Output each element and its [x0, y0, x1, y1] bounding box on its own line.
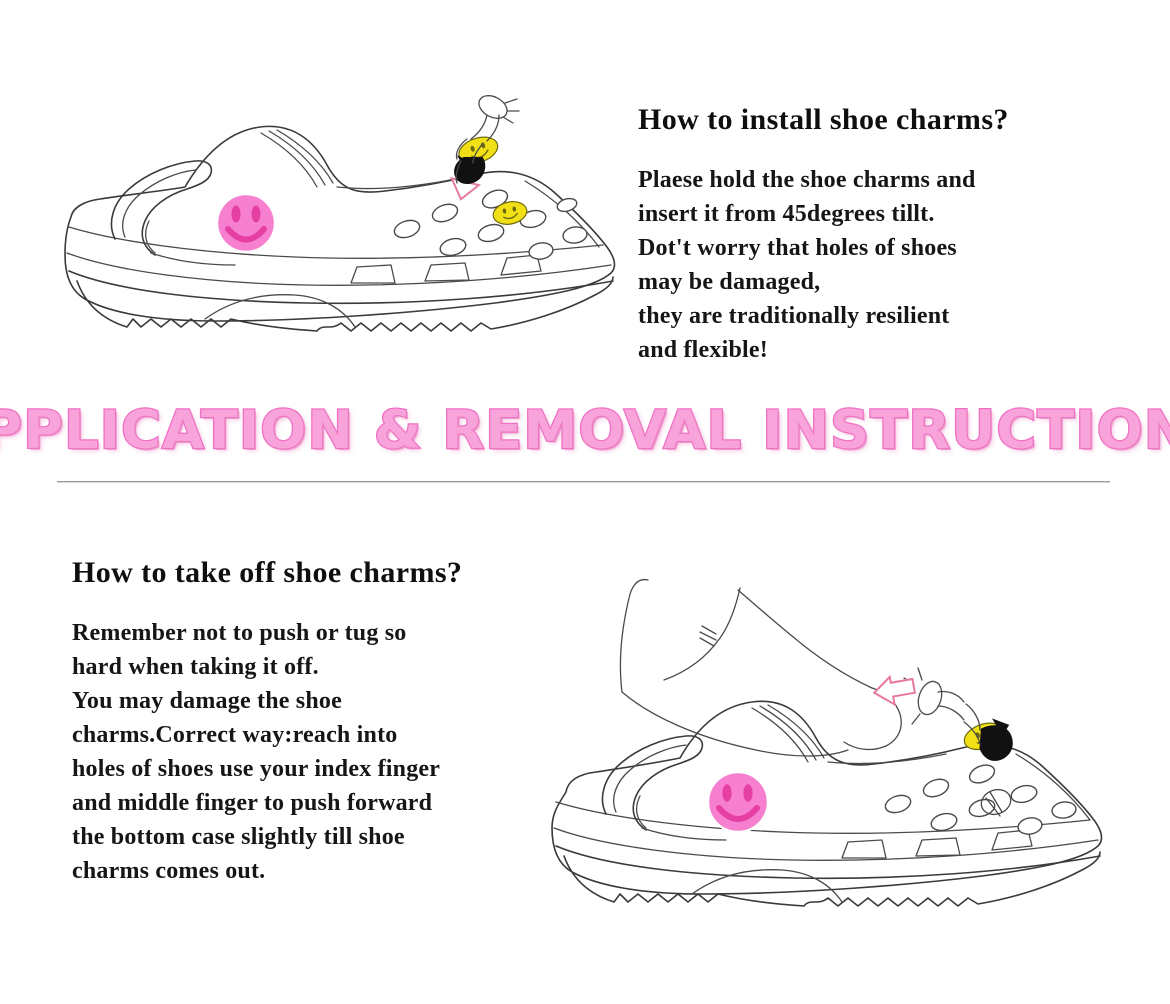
removal-line-3: You may damage the shoe: [72, 684, 572, 718]
removal-illustration: [530, 580, 1150, 920]
install-heading: How to install shoe charms?: [638, 103, 1108, 137]
removing-yellow-charm: [960, 714, 1019, 770]
pink-smiley-charm: [217, 194, 275, 252]
install-line-6: and flexible!: [638, 333, 1108, 367]
install-section: How to install shoe charms? Plaese hold …: [0, 0, 1170, 400]
clog-shoe-install-drawing: [55, 95, 625, 345]
removal-line-2: hard when taking it off.: [72, 650, 572, 684]
removal-line-8: charms comes out.: [72, 854, 572, 888]
banner: APPLICATION & REMOVAL INSTRUCTIONS: [0, 398, 1170, 464]
removal-line-6: and middle finger to push forward: [72, 786, 572, 820]
removal-line-7: the bottom case slightly till shoe: [72, 820, 572, 854]
install-line-3: Dot't worry that holes of shoes: [638, 231, 1108, 265]
removal-heading: How to take off shoe charms?: [72, 556, 572, 590]
banner-title: APPLICATION & REMOVAL INSTRUCTIONS: [0, 403, 1170, 459]
install-line-1: Plaese hold the shoe charms and: [638, 163, 1108, 197]
install-line-4: may be damaged,: [638, 265, 1108, 299]
install-text-block: How to install shoe charms? Plaese hold …: [638, 103, 1108, 367]
clog-shoe-removal-drawing: [530, 580, 1150, 920]
removal-line-1: Remember not to push or tug so: [72, 616, 572, 650]
install-line-2: insert it from 45degrees tillt.: [638, 197, 1108, 231]
install-illustration: [55, 95, 625, 345]
pink-smiley-charm: [708, 772, 768, 832]
install-line-5: they are traditionally resilient: [638, 299, 1108, 333]
removal-line-4: charms.Correct way:reach into: [72, 718, 572, 752]
remove-arrow-icon: [872, 673, 916, 708]
foot-illustration: [620, 580, 901, 756]
section-divider: [57, 481, 1110, 483]
removal-line-5: holes of shoes use your index finger: [72, 752, 572, 786]
removal-text-block: How to take off shoe charms? Remember no…: [72, 556, 572, 888]
